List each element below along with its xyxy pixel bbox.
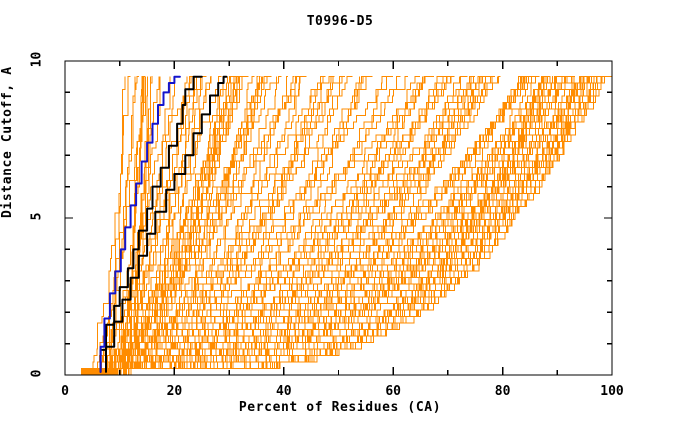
y-axis-label: Distance Cutoff, A	[0, 66, 15, 218]
x-tick-label: 60	[363, 384, 423, 399]
x-tick-label: 100	[582, 384, 642, 399]
x-axis-label: Percent of Residues (CA)	[0, 400, 680, 415]
y-tick-label: 5	[30, 197, 45, 237]
plot-canvas	[0, 0, 680, 440]
curves-layer	[82, 77, 614, 375]
x-tick-label: 20	[144, 384, 204, 399]
y-tick-label: 10	[30, 40, 45, 80]
x-tick-label: 80	[473, 384, 533, 399]
y-tick-label: 0	[30, 354, 45, 394]
x-tick-label: 40	[254, 384, 314, 399]
chart-figure: T0996-D5 Percent of Residues (CA) Distan…	[0, 0, 680, 440]
